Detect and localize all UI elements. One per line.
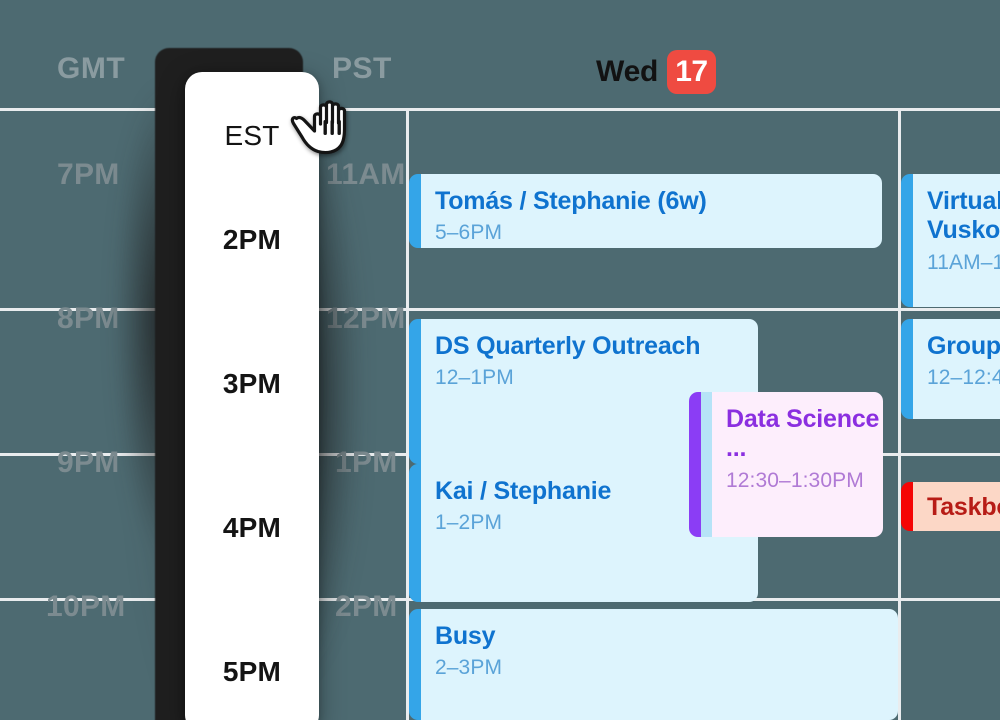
timezone-column-header-gmt[interactable]: GMT bbox=[57, 52, 125, 86]
time-tick: 10PM bbox=[46, 590, 126, 624]
time-tick: 9PM bbox=[57, 446, 120, 480]
event-secondary-bar bbox=[701, 392, 712, 537]
event-data-science[interactable]: Data Science ... 12:30–1:30PM bbox=[689, 392, 883, 537]
event-title: Virtual Vuskov bbox=[927, 187, 1000, 246]
time-tick: 7PM bbox=[57, 158, 120, 192]
timezone-option-5pm[interactable]: 5PM bbox=[185, 656, 319, 688]
event-time: 11AM–12 bbox=[927, 250, 1000, 275]
date-weekday-label: Wed bbox=[596, 55, 658, 89]
event-time: 12–1PM bbox=[435, 365, 758, 390]
event-time: 12:30–1:30PM bbox=[726, 468, 883, 493]
time-tick: 8PM bbox=[57, 302, 120, 336]
event-accent-bar bbox=[689, 392, 701, 537]
event-time: 12–12:45 bbox=[927, 365, 1000, 390]
date-day-badge: 17 bbox=[667, 50, 715, 94]
event-title: Tomás / Stephanie (6w) bbox=[435, 187, 882, 216]
timezone-picker[interactable]: EST 2PM 3PM 4PM 5PM bbox=[185, 72, 319, 720]
time-tick: 1PM bbox=[335, 446, 398, 480]
event-accent-bar bbox=[901, 174, 913, 307]
event-accent-bar bbox=[409, 174, 421, 248]
event-accent-bar bbox=[409, 609, 421, 720]
event-time: 2–3PM bbox=[435, 655, 898, 680]
time-tick: 11AM bbox=[326, 158, 406, 192]
event-virtual-vuskovic[interactable]: Virtual Vuskov 11AM–12 bbox=[901, 174, 1000, 307]
timezone-option-3pm[interactable]: 3PM bbox=[185, 368, 319, 400]
event-tomas-stephanie[interactable]: Tomás / Stephanie (6w) 5–6PM bbox=[409, 174, 882, 248]
event-accent-bar bbox=[409, 319, 421, 464]
event-accent-bar bbox=[901, 319, 913, 419]
time-ruler-gmt: 7PM 8PM 9PM 10PM bbox=[0, 110, 180, 720]
event-body: Taskbo bbox=[913, 482, 1000, 531]
event-body: Data Science ... 12:30–1:30PM bbox=[712, 392, 883, 537]
calendar-header: GMT PST Wed 17 bbox=[0, 0, 1000, 110]
event-body: Busy 2–3PM bbox=[421, 609, 898, 720]
event-accent-bar bbox=[901, 482, 913, 531]
timezone-option-2pm[interactable]: 2PM bbox=[185, 224, 319, 256]
event-body: Virtual Vuskov 11AM–12 bbox=[913, 174, 1000, 307]
event-title: Group bbox=[927, 332, 1000, 361]
event-body: Tomás / Stephanie (6w) 5–6PM bbox=[421, 174, 882, 248]
time-tick: 12PM bbox=[326, 302, 406, 336]
timezone-option-4pm[interactable]: 4PM bbox=[185, 512, 319, 544]
event-title: DS Quarterly Outreach bbox=[435, 332, 758, 361]
date-header[interactable]: Wed 17 bbox=[596, 50, 716, 94]
event-title: Busy bbox=[435, 622, 898, 651]
event-time: 5–6PM bbox=[435, 220, 882, 245]
event-taskboard[interactable]: Taskbo bbox=[901, 482, 1000, 531]
time-tick: 2PM bbox=[335, 590, 398, 624]
event-accent-bar bbox=[409, 464, 421, 602]
event-title: Data Science ... bbox=[726, 405, 883, 464]
event-title: Taskbo bbox=[927, 493, 1000, 522]
calendar-canvas: GMT PST Wed 17 7PM 8PM 9PM 10PM 11AM 12P… bbox=[0, 0, 1000, 720]
timezone-column-header-pst[interactable]: PST bbox=[332, 52, 392, 86]
event-busy[interactable]: Busy 2–3PM bbox=[409, 609, 898, 720]
event-body: Group 12–12:45 bbox=[913, 319, 1000, 419]
timezone-option-est[interactable]: EST bbox=[185, 120, 319, 152]
event-group[interactable]: Group 12–12:45 bbox=[901, 319, 1000, 419]
